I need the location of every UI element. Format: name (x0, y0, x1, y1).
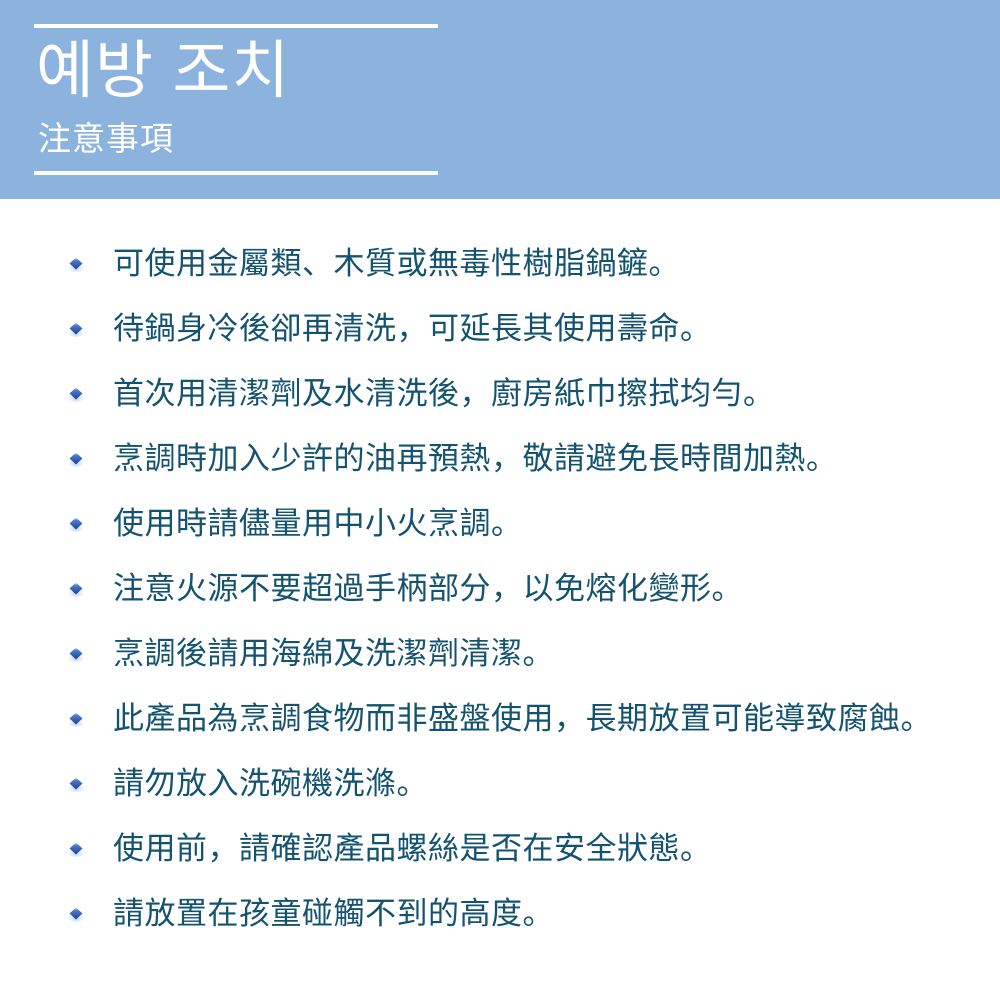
diamond-bullet-icon (68, 711, 84, 727)
list-item-text: 烹調時加入少許的油再預熱，敬請避免長時間加熱。 (113, 439, 838, 479)
header-band: 예방 조치 注意事項 (0, 0, 1000, 199)
list-item: 烹調時加入少許的油再預熱，敬請避免長時間加熱。 (0, 426, 1000, 491)
list-item-text: 此產品為烹調食物而非盛盤使用，長期放置可能導致腐蝕。 (113, 699, 932, 739)
precautions-list: 可使用金屬類、木質或無毒性樹脂鍋鏟。待鍋身冷後卻再清洗，可延長其使用壽命。首次用… (0, 199, 1000, 946)
diamond-bullet-icon (68, 256, 84, 272)
diamond-bullet-icon (68, 451, 84, 467)
list-item: 使用前，請確認產品螺絲是否在安全狀態。 (0, 816, 1000, 881)
list-item: 待鍋身冷後卻再清洗，可延長其使用壽命。 (0, 296, 1000, 361)
list-item-text: 可使用金屬類、木質或無毒性樹脂鍋鏟。 (113, 244, 680, 284)
list-item-text: 使用時請儘量用中小火烹調。 (113, 504, 523, 544)
diamond-bullet-icon (68, 321, 84, 337)
list-item-text: 使用前，請確認產品螺絲是否在安全狀態。 (113, 829, 712, 869)
list-item-text: 注意火源不要超過手柄部分，以免熔化變形。 (113, 569, 743, 609)
diamond-bullet-icon (68, 841, 84, 857)
diamond-bullet-icon (68, 646, 84, 662)
list-item-text: 待鍋身冷後卻再清洗，可延長其使用壽命。 (113, 309, 712, 349)
list-item: 此產品為烹調食物而非盛盤使用，長期放置可能導致腐蝕。 (0, 686, 1000, 751)
header-rule-top (34, 24, 438, 28)
list-item: 注意火源不要超過手柄部分，以免熔化變形。 (0, 556, 1000, 621)
list-item: 請放置在孩童碰觸不到的高度。 (0, 881, 1000, 946)
header-rule-bottom (34, 171, 438, 175)
diamond-bullet-icon (68, 516, 84, 532)
list-item: 使用時請儘量用中小火烹調。 (0, 491, 1000, 556)
page-title-korean: 예방 조치 (36, 35, 290, 107)
diamond-bullet-icon (68, 776, 84, 792)
list-item: 可使用金屬類、木質或無毒性樹脂鍋鏟。 (0, 231, 1000, 296)
diamond-bullet-icon (68, 906, 84, 922)
list-item: 首次用清潔劑及水清洗後，廚房紙巾擦拭均勻。 (0, 361, 1000, 426)
diamond-bullet-icon (68, 386, 84, 402)
list-item-text: 首次用清潔劑及水清洗後，廚房紙巾擦拭均勻。 (113, 374, 775, 414)
diamond-bullet-icon (68, 581, 84, 597)
list-item-text: 請放置在孩童碰觸不到的高度。 (113, 894, 554, 934)
list-item: 請勿放入洗碗機洗滌。 (0, 751, 1000, 816)
list-item-text: 請勿放入洗碗機洗滌。 (113, 764, 428, 804)
list-item-text: 烹調後請用海綿及洗潔劑清潔。 (113, 634, 554, 674)
precautions-page: 예방 조치 注意事項 可使用金屬類、木質或無毒性樹脂鍋鏟。待鍋身冷後卻再清洗，可… (0, 0, 1000, 1000)
list-item: 烹調後請用海綿及洗潔劑清潔。 (0, 621, 1000, 686)
page-title-chinese: 注意事項 (38, 118, 174, 160)
